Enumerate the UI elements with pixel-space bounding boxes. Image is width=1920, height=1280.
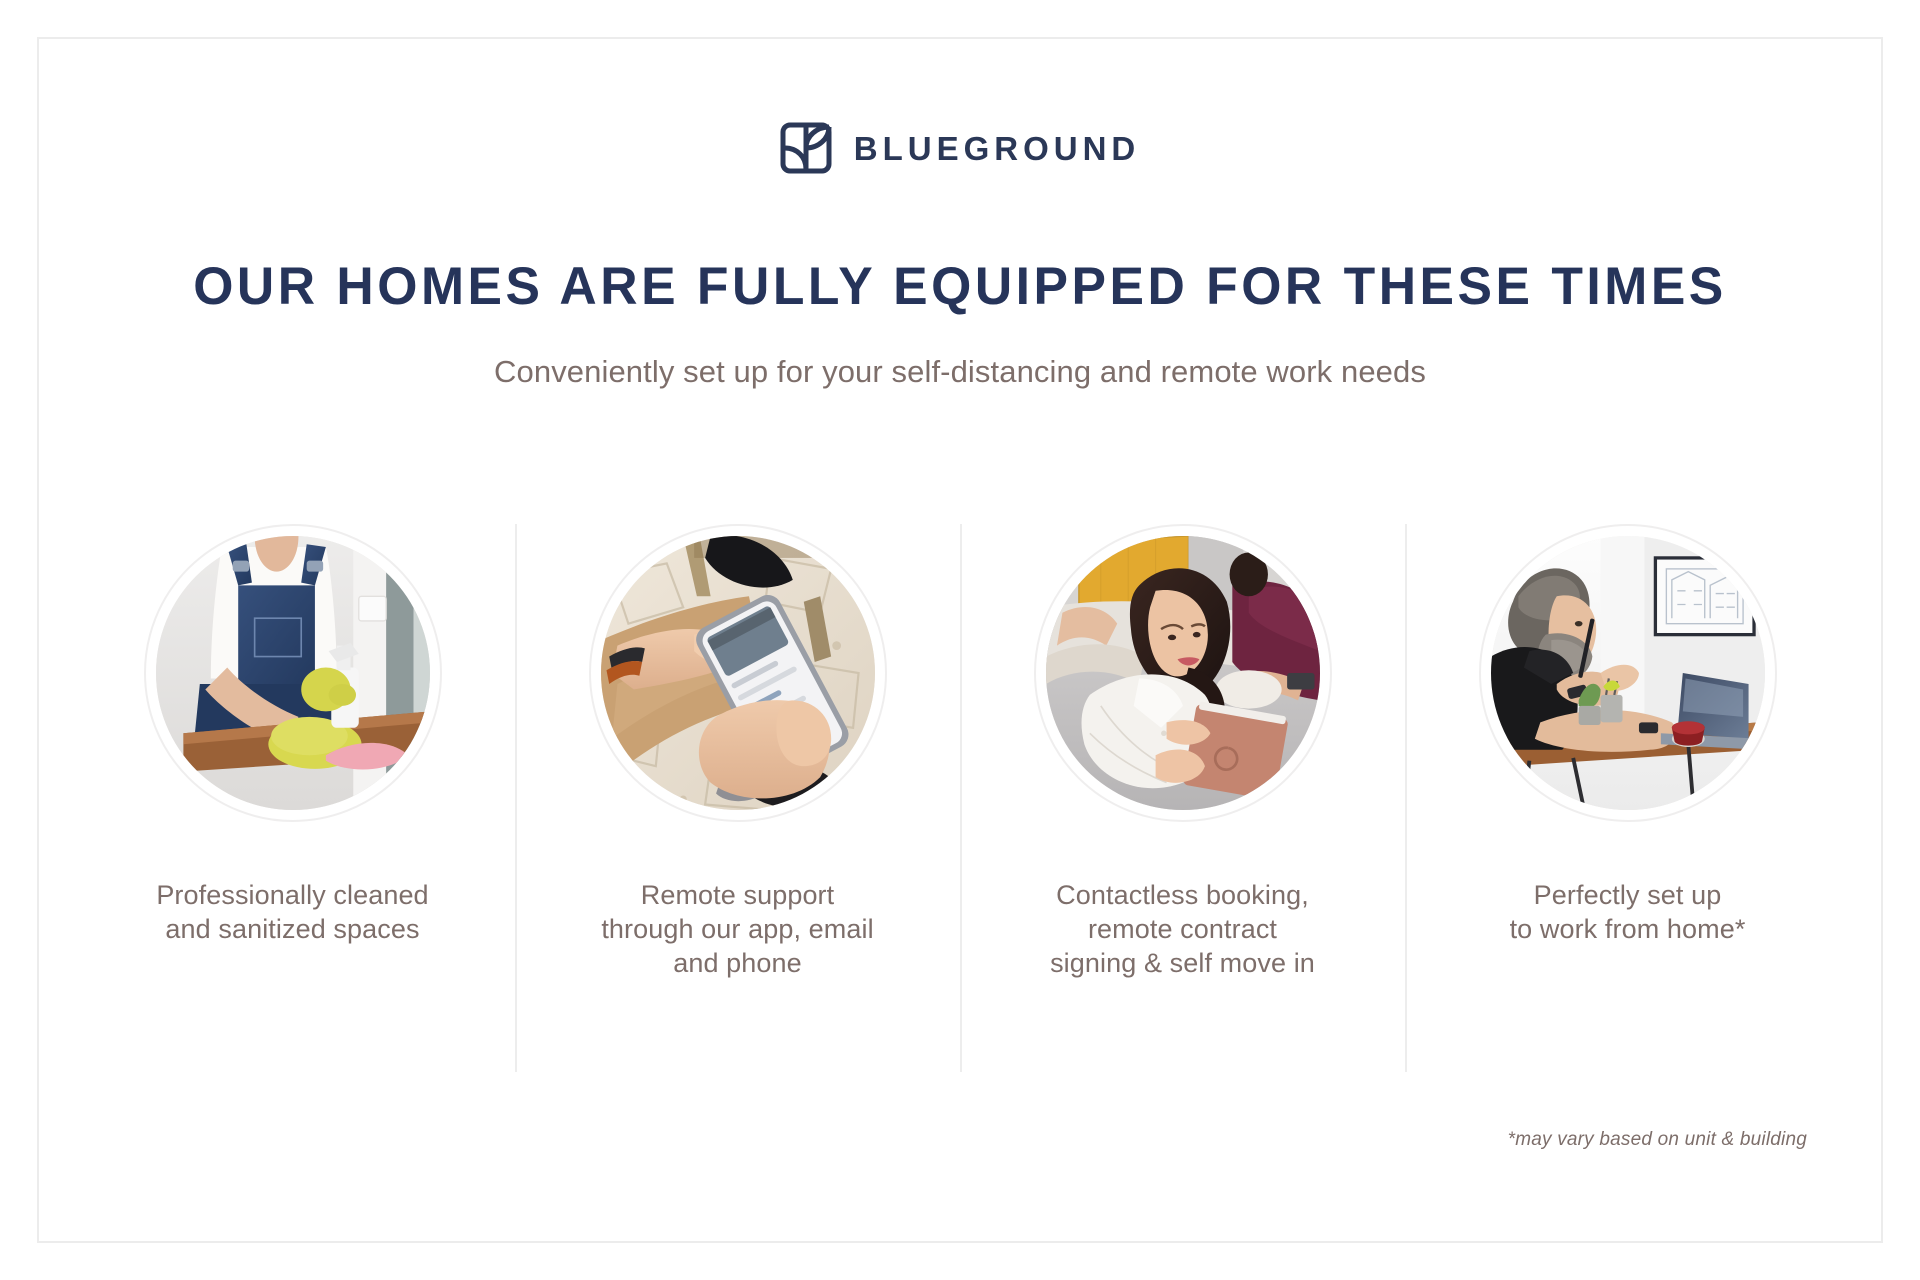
man-working-at-desk-photo — [1491, 536, 1765, 810]
feature-caption: Professionally cleaned and sanitized spa… — [156, 878, 428, 946]
footnote-disclaimer: *may vary based on unit & building — [1508, 1129, 1807, 1151]
feature-caption: Remote support through our app, email an… — [601, 878, 873, 980]
feature-card-work-from-home: Perfectly set up to work from home* — [1405, 524, 1850, 1072]
poster-canvas: BLUEGROUND OUR HOMES ARE FULLY EQUIPPED … — [0, 0, 1920, 1280]
blueground-square-mark-icon — [780, 122, 832, 174]
photo-ring — [589, 524, 887, 822]
brand-wordmark: BLUEGROUND — [854, 132, 1141, 165]
page-subtitle: Conveniently set up for your self-distan… — [0, 353, 1920, 392]
caption-line: remote contract — [1050, 912, 1315, 946]
woman-on-bed-with-tablet-photo — [1046, 536, 1320, 810]
feature-card-cleaning: Professionally cleaned and sanitized spa… — [70, 524, 515, 1072]
hands-using-phone-app-photo — [601, 536, 875, 810]
caption-line: through our app, email — [601, 912, 873, 946]
caption-line: to work from home* — [1510, 912, 1746, 946]
feature-caption: Perfectly set up to work from home* — [1510, 878, 1746, 946]
feature-card-row: Professionally cleaned and sanitized spa… — [70, 524, 1850, 1072]
feature-card-contactless-booking: Contactless booking, remote contract sig… — [960, 524, 1405, 1072]
caption-line: signing & self move in — [1050, 946, 1315, 980]
caption-line: Perfectly set up — [1510, 878, 1746, 912]
photo-ring — [1479, 524, 1777, 822]
caption-line: Professionally cleaned — [156, 878, 428, 912]
feature-caption: Contactless booking, remote contract sig… — [1050, 878, 1315, 980]
photo-ring — [1034, 524, 1332, 822]
page-title: OUR HOMES ARE FULLY EQUIPPED FOR THESE T… — [24, 258, 1896, 315]
feature-card-remote-support: Remote support through our app, email an… — [515, 524, 960, 1072]
cleaner-wiping-counter-photo — [156, 536, 430, 810]
caption-line: Contactless booking, — [1050, 878, 1315, 912]
brand-lockup: BLUEGROUND — [0, 122, 1920, 174]
photo-ring — [144, 524, 442, 822]
caption-line: and phone — [601, 946, 873, 980]
caption-line: and sanitized spaces — [156, 912, 428, 946]
caption-line: Remote support — [601, 878, 873, 912]
